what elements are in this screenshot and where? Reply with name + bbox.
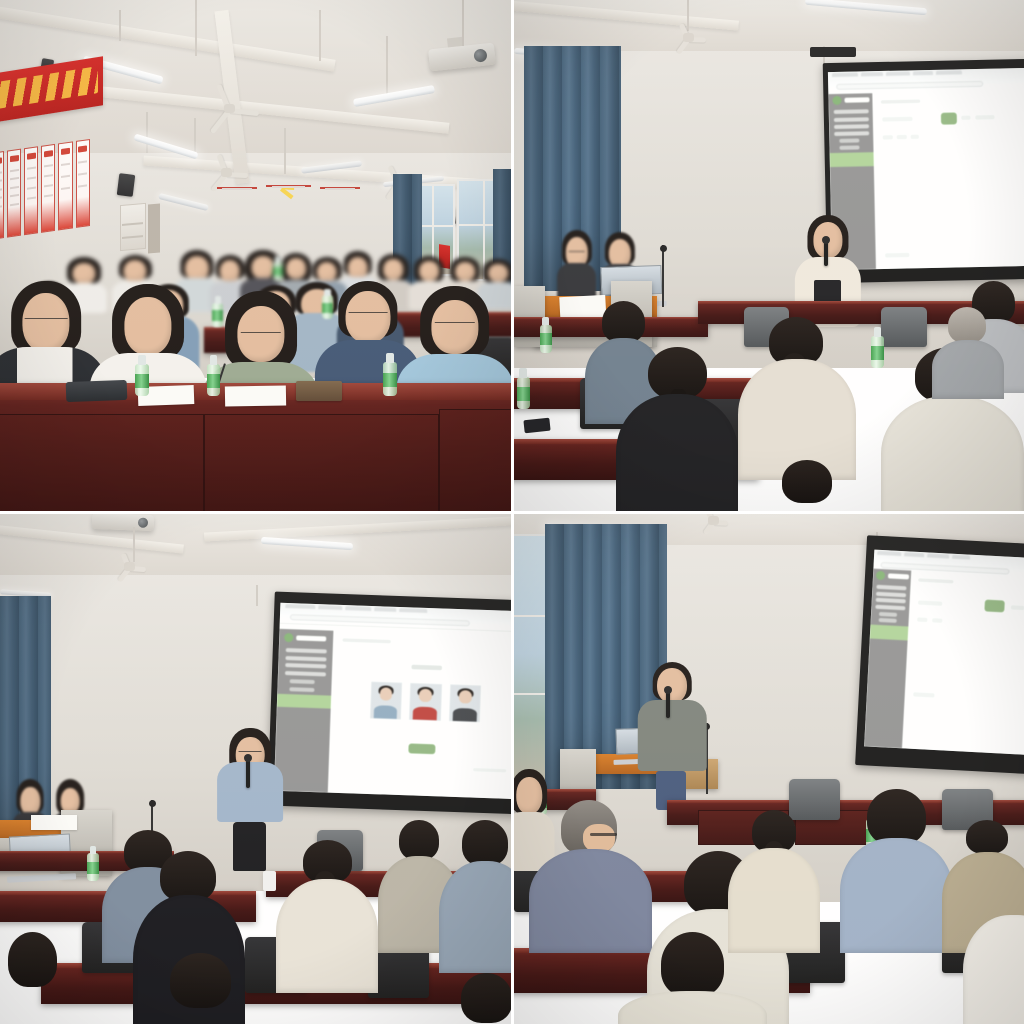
light-hanger-rod (146, 112, 148, 153)
browser-tabs[interactable] (877, 550, 970, 559)
app-logo-icon (875, 571, 884, 580)
photo-collage (0, 0, 1024, 1024)
sidebar-nav-item-selected[interactable] (869, 624, 908, 640)
handheld-microphone (666, 689, 670, 719)
app-brand-label (844, 98, 869, 104)
presenter-man (636, 662, 707, 810)
water-bottle (135, 355, 148, 396)
projection-screen[interactable] (855, 535, 1024, 774)
web-app-data-table[interactable] (863, 549, 1024, 755)
chair (881, 307, 927, 348)
collage-panel-bottom-right[interactable] (511, 511, 1024, 1024)
sidebar-nav-item[interactable] (875, 604, 905, 610)
party-notice-board (217, 187, 360, 248)
sidebar-nav-item[interactable] (285, 655, 327, 660)
wall-poster (75, 139, 89, 228)
attendee-back-view (616, 347, 738, 511)
sidebar-nav-item[interactable] (285, 671, 327, 676)
data-table[interactable] (881, 149, 882, 214)
flag-caption-card (266, 185, 311, 187)
attendee-back-view (963, 902, 1024, 1024)
footer-note (472, 768, 506, 773)
attendee-back-view (0, 932, 82, 1024)
fan-hanger-rod (133, 527, 135, 563)
poster-column (0, 139, 89, 240)
projection-screen[interactable] (267, 591, 511, 814)
water-bottle (87, 846, 99, 882)
pagination-info (885, 253, 910, 259)
breadcrumb (880, 99, 920, 104)
app-brand-label (296, 635, 326, 641)
app-content (327, 631, 511, 799)
sidebar-nav-item[interactable] (285, 648, 327, 653)
gallery-title (332, 653, 511, 678)
search-button[interactable] (985, 599, 1005, 612)
app-brand-label (887, 573, 908, 579)
sidebar-nav-item[interactable] (876, 591, 906, 597)
staff-member (557, 230, 597, 305)
water-bottle (517, 368, 530, 409)
reset-button[interactable] (1011, 604, 1024, 610)
sidebar-nav-item[interactable] (285, 663, 327, 668)
fan-hanger-rod (195, 0, 197, 56)
browser-url-bar[interactable] (836, 81, 983, 90)
collage-panel-top-left[interactable] (0, 0, 511, 511)
advanced-filter-link[interactable] (975, 115, 995, 120)
search-button[interactable] (941, 112, 957, 125)
toolbar-action[interactable] (917, 617, 928, 623)
collage-panel-top-right[interactable] (511, 0, 1024, 511)
sidebar-nav-item[interactable] (834, 117, 868, 122)
water-bottle (322, 289, 333, 320)
browser-tabs[interactable] (832, 71, 962, 78)
light-hanger-rod (386, 36, 388, 97)
sidebar-nav-subitem[interactable] (289, 686, 314, 691)
toolbar-action[interactable] (896, 135, 907, 140)
ceiling-fan (204, 164, 248, 180)
ceiling-fan (670, 31, 706, 44)
attendee-back-view (439, 820, 511, 973)
water-bottle (540, 317, 552, 353)
filter-field[interactable] (882, 117, 913, 123)
app-content (902, 570, 1024, 755)
water-bottle (207, 355, 220, 396)
app-content (872, 90, 1024, 269)
water-bottle (212, 296, 223, 327)
sidebar-nav-subitem[interactable] (290, 679, 315, 684)
desk-front-panel (0, 414, 204, 511)
sidebar-nav-subitem[interactable] (879, 611, 897, 616)
notice-poster-right (320, 187, 360, 189)
tablet-device (66, 380, 128, 403)
projector-mount-rod (462, 0, 464, 46)
classroom-audience-scene (0, 0, 511, 511)
data-table[interactable] (913, 635, 915, 665)
projected-screen-content (863, 549, 1024, 755)
wall-poster (7, 148, 21, 237)
toolbar-action[interactable] (932, 618, 943, 624)
screen-mount-rod (256, 585, 258, 605)
smartphone (524, 418, 551, 433)
ceiling-fan (112, 560, 146, 572)
ceiling-fan (698, 514, 728, 525)
desk-front-panel (439, 409, 511, 511)
ceiling-fan (199, 97, 259, 119)
app-logo-icon (832, 96, 841, 105)
sidebar-nav-item[interactable] (876, 598, 906, 604)
attendee-back-view (276, 840, 378, 993)
sidebar-nav-item[interactable] (876, 584, 906, 590)
filter-field[interactable] (918, 599, 943, 605)
sidebar-nav-item[interactable] (834, 110, 868, 115)
wall-speaker (116, 173, 135, 197)
browser-chrome (280, 602, 511, 632)
eyeglasses (590, 833, 617, 836)
sidebar-nav-subitem[interactable] (878, 618, 896, 623)
sidebar-nav-item[interactable] (835, 131, 869, 136)
light-hanger-rod (319, 10, 321, 61)
attendee-back-view (429, 973, 511, 1024)
projection-screen-case (810, 47, 856, 57)
paper-sheet (31, 815, 77, 830)
wall-poster (58, 141, 72, 230)
attendee-back-view (932, 307, 1003, 399)
web-app-photo-gallery[interactable] (274, 602, 511, 799)
toolbar-action[interactable] (910, 134, 919, 139)
attendee-back-view (133, 953, 266, 1024)
paper-sheet (225, 385, 287, 407)
pagination-info (913, 691, 935, 697)
handheld-microphone (824, 239, 828, 266)
attendee-back-view (749, 460, 861, 511)
sidebar-nav-subitem[interactable] (839, 138, 859, 142)
sidebar-nav-subitem[interactable] (839, 145, 859, 149)
ceiling-projector (92, 514, 155, 531)
app-logo-icon (284, 632, 293, 641)
attendee-back-view (840, 789, 952, 952)
desk-front-panel (204, 414, 439, 511)
id-photo[interactable] (448, 683, 481, 722)
cup (263, 871, 276, 891)
id-photo-row (330, 679, 511, 724)
light-hanger-rod (119, 10, 121, 41)
fan-hanger-rod (687, 0, 689, 31)
attendee-side-view (529, 800, 651, 953)
breadcrumb (342, 637, 391, 643)
wall-poster (41, 143, 55, 232)
app-brand (829, 93, 873, 108)
male-presenter-scene (514, 514, 1024, 1024)
water-bottle (273, 256, 282, 282)
sidebar-nav-item-selected[interactable] (277, 694, 331, 709)
id-photo[interactable] (369, 681, 402, 720)
id-photo[interactable] (409, 682, 442, 721)
attendee-face (583, 824, 615, 852)
attendee-back-view (738, 317, 855, 481)
submit-button[interactable] (408, 743, 435, 754)
breadcrumb (918, 578, 954, 584)
attendee-back-view (728, 810, 820, 953)
speaker-with-table-screen-scene (514, 0, 1024, 511)
attendee-back-view (626, 932, 759, 1024)
app-brand (872, 568, 911, 583)
sidebar-nav-item[interactable] (835, 124, 869, 129)
handheld-microphone (246, 757, 250, 788)
gooseneck-microphone (659, 245, 667, 306)
app-brand (279, 629, 333, 646)
wall-cabinet (120, 203, 146, 251)
water-bottle (383, 353, 396, 396)
wall-poster (0, 151, 4, 240)
browser-url-bar[interactable] (290, 614, 470, 626)
door-frame (148, 204, 160, 254)
presenter-with-photo-screen-scene (0, 514, 511, 1024)
notebook (296, 381, 342, 401)
wall-poster (24, 146, 38, 235)
collage-panel-bottom-left[interactable] (0, 511, 511, 1024)
sidebar-nav-item-selected[interactable] (830, 152, 874, 167)
notice-poster-left (217, 187, 257, 189)
reset-button[interactable] (961, 116, 970, 121)
projected-screen-content (274, 602, 511, 799)
toolbar-action[interactable] (883, 135, 894, 140)
light-hanger-rod (284, 128, 286, 174)
browser-tabs[interactable] (285, 604, 427, 613)
